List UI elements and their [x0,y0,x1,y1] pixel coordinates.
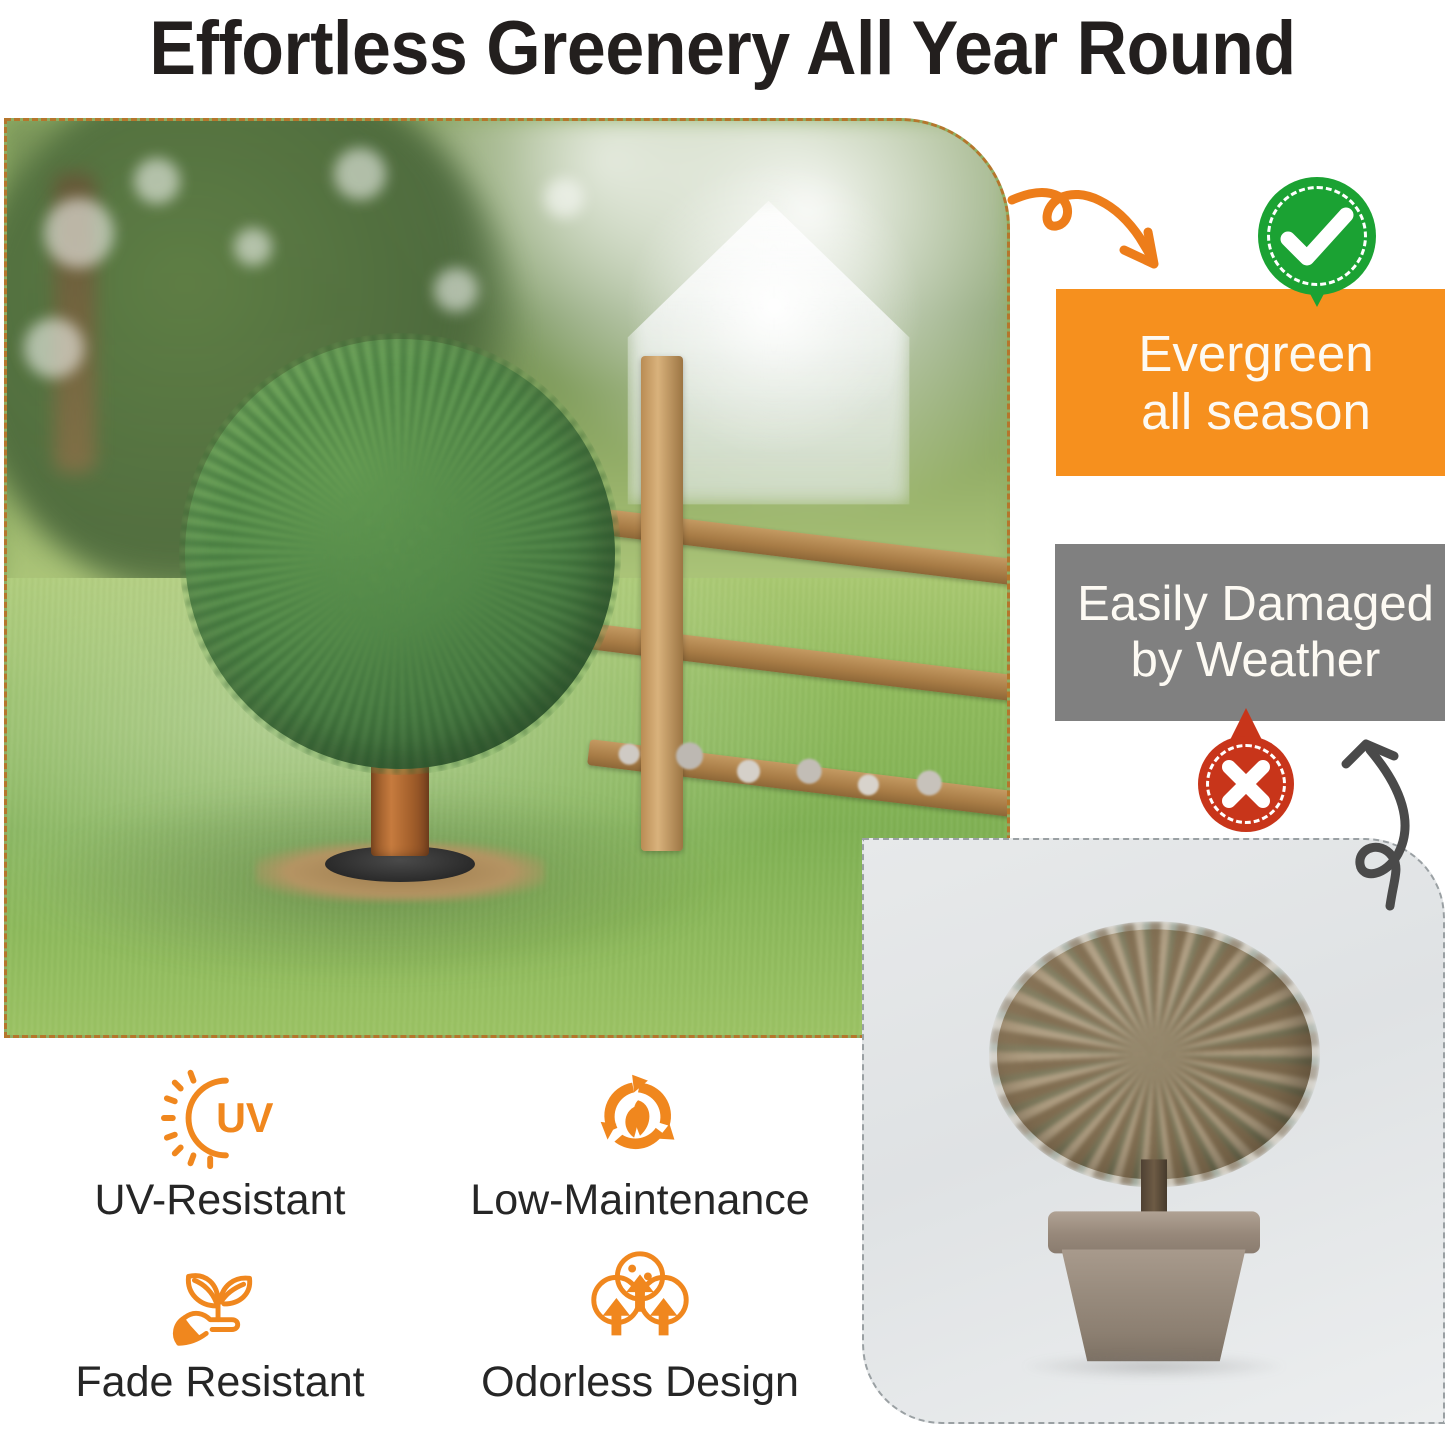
bokeh-dot [44,198,114,268]
hero-product-photo [4,118,1010,1038]
pot-rim [1048,1211,1260,1253]
svg-text:UV: UV [216,1095,274,1141]
topiary-product [185,339,615,769]
feature-item-uv-resistant: UV UV-Resistant [10,1066,430,1246]
uv-sun-icon: UV [161,1066,279,1170]
feature-item-fade-resistant: Fade Resistant [10,1248,430,1428]
feature-label: UV-Resistant [95,1176,346,1225]
feature-item-low-maintenance: Low-Maintenance [430,1066,850,1246]
withered-plant [989,929,1319,1349]
callout-bad: Easily Damaged by Weather [1055,544,1445,721]
callout-bad-line1: Easily Damaged [1077,577,1434,632]
bokeh-dot [24,318,84,378]
callout-good-line2: all season [1138,383,1373,441]
bokeh-dot [334,148,386,200]
pot-body [1062,1249,1246,1361]
bokeh-dot [134,158,180,204]
bokeh-dot [434,268,478,312]
callout-good-line1: Evergreen [1138,325,1373,383]
callout-good: Evergreen all season [1056,289,1445,476]
curved-arrow-down-right-icon [1012,176,1202,296]
check-circle-icon [1258,177,1376,295]
bokeh-dot [234,228,272,266]
feature-list: UV UV-Resistant Low-Maintenance [10,1066,850,1426]
comparison-photo-panel [862,838,1445,1424]
callout-bad-line2: by Weather [1077,633,1434,688]
odorless-cloud-arrows-icon [581,1248,699,1352]
feature-item-odorless-design: Odorless Design [430,1248,850,1428]
topiary-foliage-ball [185,339,615,769]
curved-arrow-up-left-icon [1330,718,1445,908]
hand-sprout-icon [161,1248,279,1352]
feature-label: Fade Resistant [75,1358,364,1407]
feature-label: Low-Maintenance [470,1176,809,1225]
bokeh-dot [544,178,584,218]
hero-photo-scene [4,118,1010,1038]
pot-shadow [1019,1353,1289,1379]
terracotta-pot [1048,1211,1260,1361]
infographic-canvas: Effortless Greenery All Year Round [0,0,1445,1433]
page-title: Effortless Greenery All Year Round [58,2,1387,94]
cross-circle-icon [1198,736,1294,832]
recycle-leaf-icon [581,1066,699,1170]
feature-label: Odorless Design [481,1358,799,1407]
withered-foliage-ball [997,929,1312,1179]
